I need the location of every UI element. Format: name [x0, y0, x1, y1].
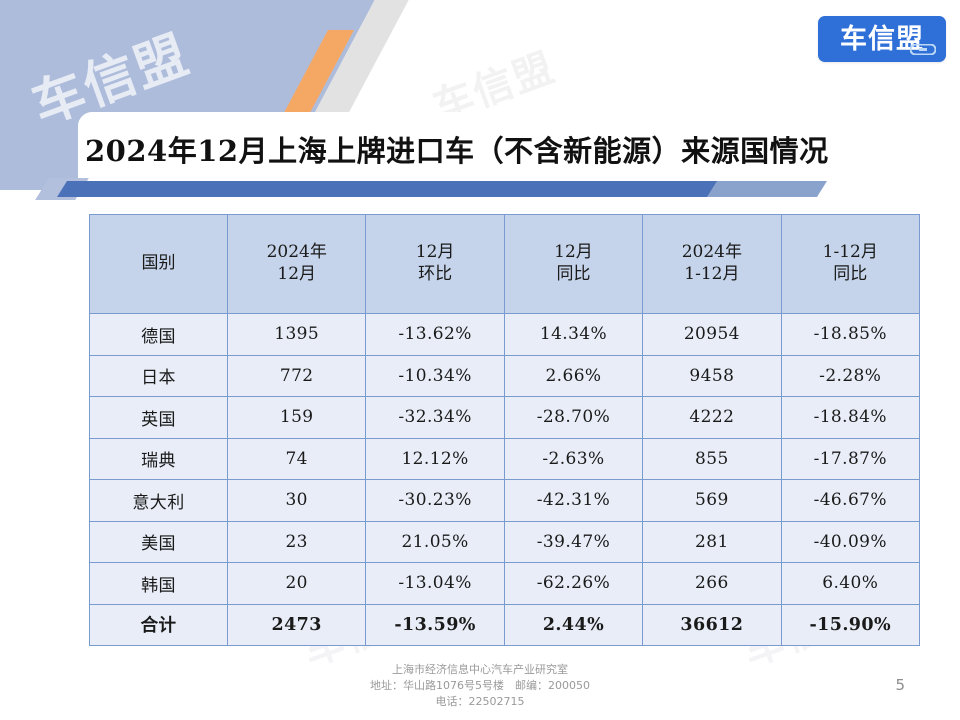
- cell-dec-yoy: 2.44%: [504, 604, 642, 646]
- cell-dec-yoy: -2.63%: [504, 438, 642, 480]
- cell-ytd-yoy: -40.09%: [781, 521, 919, 563]
- accent-segment-dark: [57, 181, 719, 197]
- cell-dec-mom: -13.04%: [366, 563, 504, 605]
- cell-dec-mom: -32.34%: [366, 397, 504, 439]
- cell-dec-mom: -13.62%: [366, 314, 504, 356]
- table-header-row: 国别 2024年 12月 12月 环比 12月 同比 2024年 1-12月: [90, 215, 920, 314]
- table-body: 德国1395-13.62%14.34%20954-18.85%日本772-10.…: [90, 314, 920, 646]
- cell-ytd-volume: 9458: [643, 355, 781, 397]
- cell-country: 英国: [90, 397, 228, 439]
- accent-segment-light: [707, 181, 827, 197]
- cell-ytd-yoy: -15.90%: [781, 604, 919, 646]
- cell-country: 韩国: [90, 563, 228, 605]
- cell-dec-volume: 30: [228, 480, 366, 522]
- table-row: 美国2321.05%-39.47%281-40.09%: [90, 521, 920, 563]
- cell-dec-mom: -10.34%: [366, 355, 504, 397]
- cell-country: 瑞典: [90, 438, 228, 480]
- table-row: 韩国20-13.04%-62.26%2666.40%: [90, 563, 920, 605]
- cell-country: 日本: [90, 355, 228, 397]
- cell-dec-yoy: 14.34%: [504, 314, 642, 356]
- column-header-ytd-volume: 2024年 1-12月: [643, 215, 781, 314]
- column-header-dec-mom: 12月 环比: [366, 215, 504, 314]
- cell-ytd-yoy: -2.28%: [781, 355, 919, 397]
- cell-ytd-volume: 20954: [643, 314, 781, 356]
- table-total-row: 合计2473-13.59%2.44%36612-15.90%: [90, 604, 920, 646]
- cell-dec-volume: 74: [228, 438, 366, 480]
- cell-dec-volume: 772: [228, 355, 366, 397]
- cell-dec-mom: 21.05%: [366, 521, 504, 563]
- cell-country: 合计: [90, 604, 228, 646]
- column-header-ytd-yoy: 1-12月 同比: [781, 215, 919, 314]
- title-accent-bar: [40, 181, 840, 203]
- cell-dec-volume: 23: [228, 521, 366, 563]
- cell-dec-volume: 2473: [228, 604, 366, 646]
- cell-dec-yoy: -62.26%: [504, 563, 642, 605]
- cell-dec-yoy: -28.70%: [504, 397, 642, 439]
- footer-line-org: 上海市经济信息中心汽车产业研究室: [0, 662, 960, 678]
- column-header-dec-volume: 2024年 12月: [228, 215, 366, 314]
- table-row: 日本772-10.34%2.66%9458-2.28%: [90, 355, 920, 397]
- page-number: 5: [895, 676, 905, 694]
- table-row: 英国159-32.34%-28.70%4222-18.84%: [90, 397, 920, 439]
- cell-dec-mom: -30.23%: [366, 480, 504, 522]
- cell-dec-mom: -13.59%: [366, 604, 504, 646]
- cell-ytd-yoy: -18.85%: [781, 314, 919, 356]
- page-title: 2024年12月上海上牌进口车（不含新能源）来源国情况: [85, 128, 925, 170]
- cell-dec-mom: 12.12%: [366, 438, 504, 480]
- cell-ytd-yoy: -17.87%: [781, 438, 919, 480]
- brand-logo-badge[interactable]: 车信盟: [818, 16, 946, 62]
- import-car-origin-table: 国别 2024年 12月 12月 环比 12月 同比 2024年 1-12月: [89, 214, 920, 646]
- cell-dec-yoy: 2.66%: [504, 355, 642, 397]
- cell-country: 美国: [90, 521, 228, 563]
- cell-country: 意大利: [90, 480, 228, 522]
- cell-ytd-volume: 266: [643, 563, 781, 605]
- cell-dec-volume: 20: [228, 563, 366, 605]
- cell-ytd-volume: 855: [643, 438, 781, 480]
- table-row: 德国1395-13.62%14.34%20954-18.85%: [90, 314, 920, 356]
- cell-ytd-yoy: -46.67%: [781, 480, 919, 522]
- link-icon: [910, 44, 936, 55]
- cell-ytd-volume: 569: [643, 480, 781, 522]
- footer-line-address: 地址：华山路1076号5号楼 邮编：200050: [0, 678, 960, 694]
- footer-line-phone: 电话：22502715: [0, 694, 960, 710]
- cell-ytd-yoy: -18.84%: [781, 397, 919, 439]
- cell-dec-volume: 159: [228, 397, 366, 439]
- cell-ytd-volume: 281: [643, 521, 781, 563]
- cell-dec-yoy: -42.31%: [504, 480, 642, 522]
- slide-canvas: 车信盟 车信盟 车信盟 车信盟 车信盟 2024年12月上海上牌进口车（不含新能…: [0, 0, 960, 720]
- table-row: 意大利30-30.23%-42.31%569-46.67%: [90, 480, 920, 522]
- cell-dec-volume: 1395: [228, 314, 366, 356]
- cell-country: 德国: [90, 314, 228, 356]
- cell-ytd-yoy: 6.40%: [781, 563, 919, 605]
- table-row: 瑞典7412.12%-2.63%855-17.87%: [90, 438, 920, 480]
- cell-dec-yoy: -39.47%: [504, 521, 642, 563]
- column-header-dec-yoy: 12月 同比: [504, 215, 642, 314]
- cell-ytd-volume: 4222: [643, 397, 781, 439]
- column-header-country: 国别: [90, 215, 228, 314]
- cell-ytd-volume: 36612: [643, 604, 781, 646]
- footer: 上海市经济信息中心汽车产业研究室 地址：华山路1076号5号楼 邮编：20005…: [0, 662, 960, 710]
